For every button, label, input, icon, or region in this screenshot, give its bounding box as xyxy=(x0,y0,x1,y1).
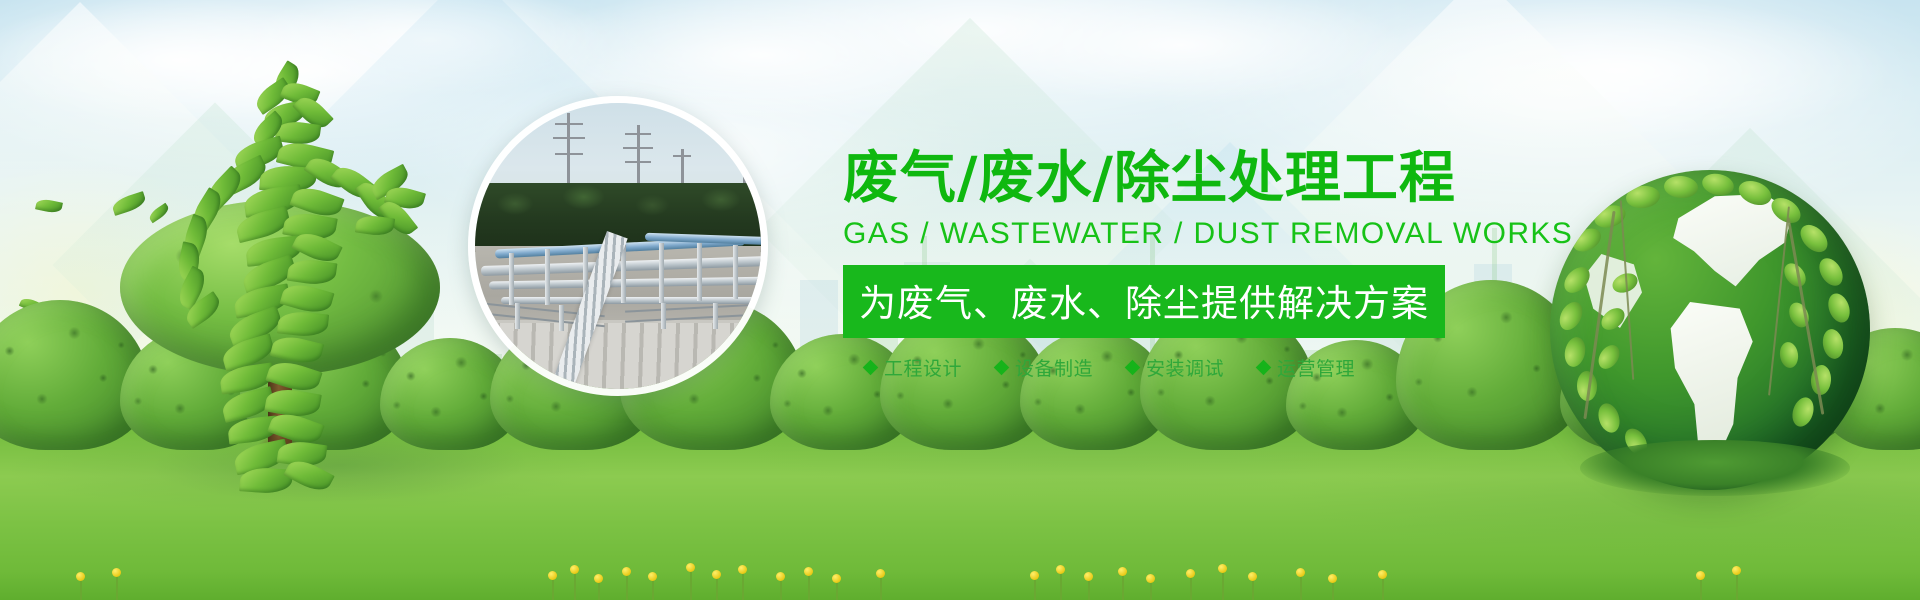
feature-label: 工程设计 xyxy=(884,354,962,381)
diamond-icon xyxy=(994,360,1010,376)
subtitle-english: GAS / WASTEWATER / DUST REMOVAL WORKS xyxy=(843,217,1563,251)
feature-label: 安装调试 xyxy=(1146,354,1224,381)
eco-engineering-banner: 废气/废水/除尘处理工程 GAS / WASTEWATER / DUST REM… xyxy=(0,0,1920,600)
diamond-icon xyxy=(1125,360,1141,376)
feature-item-equipment-manufacturing[interactable]: 设备制造 xyxy=(996,354,1093,381)
diamond-icon xyxy=(863,360,879,376)
page-title: 废气/废水/除尘处理工程 xyxy=(843,150,1563,209)
feature-label: 设备制造 xyxy=(1015,354,1093,381)
feature-item-engineering-design[interactable]: 工程设计 xyxy=(865,354,962,381)
circle-photo-wastewater-plant xyxy=(468,96,768,396)
slogan-text: 为废气、废水、除尘提供解决方案 xyxy=(859,282,1429,325)
green-globe xyxy=(1550,170,1870,490)
photo-basin xyxy=(468,320,768,389)
feature-item-operation-management[interactable]: 运营管理 xyxy=(1258,354,1355,381)
feature-list: 工程设计 设备制造 安装调试 运营管理 xyxy=(843,354,1563,381)
slogan-bar: 为废气、废水、除尘提供解决方案 xyxy=(843,265,1445,338)
feature-item-installation-commissioning[interactable]: 安装调试 xyxy=(1127,354,1224,381)
leaf-figure xyxy=(150,60,440,490)
feature-label: 运营管理 xyxy=(1277,354,1355,381)
globe-ground-shadow xyxy=(1580,440,1850,496)
banner-text-block: 废气/废水/除尘处理工程 GAS / WASTEWATER / DUST REM… xyxy=(843,150,1563,381)
diamond-icon xyxy=(1256,360,1272,376)
